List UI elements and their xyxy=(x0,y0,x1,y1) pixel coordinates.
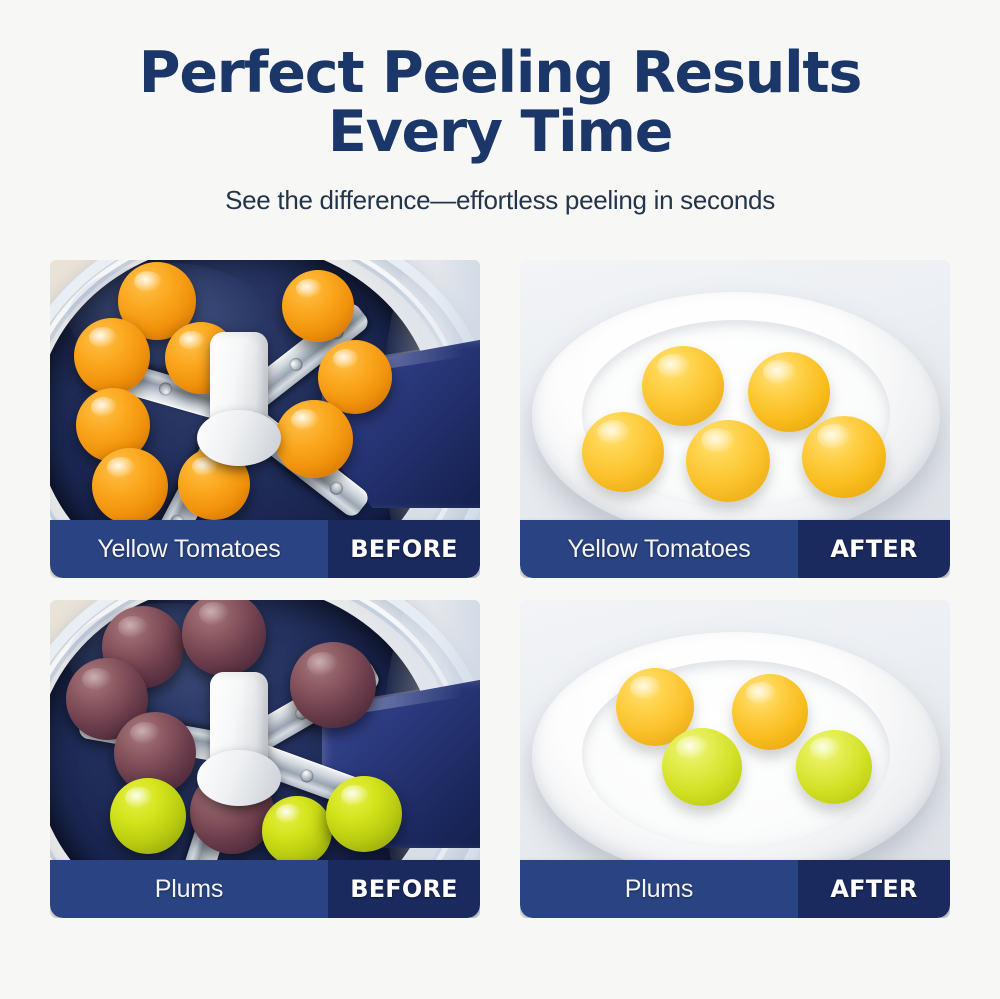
card-label-bar: Yellow Tomatoes BEFORE xyxy=(50,520,480,578)
card-fruit-label: Plums xyxy=(50,860,328,918)
peeler-center-hub xyxy=(210,672,268,800)
white-plate xyxy=(532,292,940,540)
card-state-badge: AFTER xyxy=(798,860,950,918)
fruit-green-plum xyxy=(262,796,332,866)
fruit-peeled-tomato xyxy=(802,416,886,498)
fruit-peeled-tomato xyxy=(642,346,724,426)
card-state-badge: BEFORE xyxy=(328,860,480,918)
page-title-line-1: Perfect Peeling Results xyxy=(139,40,861,106)
fruit-tomato xyxy=(74,318,150,394)
fruit-green-plum xyxy=(110,778,186,854)
card-fruit-label: Yellow Tomatoes xyxy=(50,520,328,578)
peeler-center-hub xyxy=(210,332,268,460)
fruit-peeled-tomato xyxy=(686,420,770,502)
card-label-bar: Plums BEFORE xyxy=(50,860,480,918)
card-state-badge: BEFORE xyxy=(328,520,480,578)
page-subtitle: See the difference—effortless peeling in… xyxy=(0,185,1000,216)
comparison-card-yellow-tomatoes-before[interactable]: Yellow Tomatoes BEFORE xyxy=(50,260,480,578)
fruit-tomato xyxy=(275,400,353,478)
fruit-peeled-plum xyxy=(662,728,742,806)
card-label-bar: Plums AFTER xyxy=(520,860,950,918)
fruit-peeled-plum xyxy=(796,730,872,804)
comparison-grid: Yellow Tomatoes BEFORE Yellow Tomatoes A… xyxy=(50,260,950,918)
page-header: Perfect Peeling Results Every Time See t… xyxy=(0,0,1000,216)
fruit-peeled-tomato xyxy=(748,352,830,432)
comparison-card-yellow-tomatoes-after[interactable]: Yellow Tomatoes AFTER xyxy=(520,260,950,578)
comparison-card-plums-before[interactable]: Plums BEFORE xyxy=(50,600,480,918)
fruit-tomato xyxy=(282,270,354,342)
card-state-badge: AFTER xyxy=(798,520,950,578)
fruit-plum xyxy=(290,642,376,728)
card-fruit-label: Plums xyxy=(520,860,798,918)
fruit-peeled-plum xyxy=(732,674,808,750)
fruit-tomato xyxy=(92,448,168,524)
page-title-line-2: Every Time xyxy=(100,103,900,162)
comparison-card-plums-after[interactable]: Plums AFTER xyxy=(520,600,950,918)
fruit-peeled-tomato xyxy=(582,412,664,492)
card-label-bar: Yellow Tomatoes AFTER xyxy=(520,520,950,578)
fruit-green-plum xyxy=(326,776,402,852)
card-fruit-label: Yellow Tomatoes xyxy=(520,520,798,578)
page-title: Perfect Peeling Results Every Time xyxy=(100,44,900,163)
